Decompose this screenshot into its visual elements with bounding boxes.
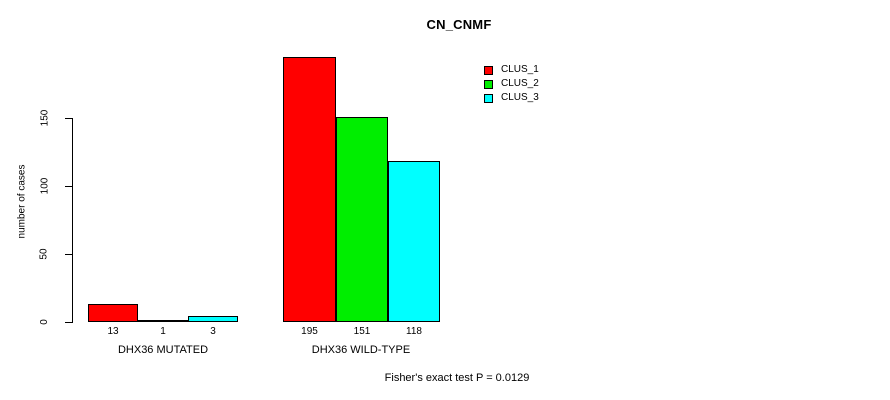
chart-title-text: CN_CNMF <box>427 17 492 32</box>
y-tick-label-0: 0 <box>32 317 58 327</box>
legend-label-clus3: CLUS_3 <box>501 93 539 103</box>
count-label-wildtype-clus3: 118 <box>388 326 440 337</box>
bar-wildtype-clus2 <box>336 117 388 322</box>
bar-mutated-clus1 <box>88 304 138 322</box>
bar-chart-figure: CN_CNMF 150 100 50 0 number of cases 13 … <box>0 0 890 400</box>
count-label-mutated-clus3: 3 <box>188 326 238 337</box>
bar-wildtype-clus3 <box>388 161 440 322</box>
legend-label-clus1: CLUS_1 <box>501 65 539 75</box>
y-tick-150 <box>65 118 72 119</box>
count-label-wildtype-clus2: 151 <box>336 326 388 337</box>
legend-label-clus2: CLUS_2 <box>501 79 539 89</box>
bar-mutated-clus2 <box>138 320 188 322</box>
y-tick-0 <box>65 322 72 323</box>
y-tick-label-150: 150 <box>32 113 58 123</box>
y-tick-label-50: 50 <box>32 249 58 259</box>
legend-swatch-clus1 <box>484 66 493 75</box>
legend: CLUS_1 CLUS_2 CLUS_3 <box>484 63 539 105</box>
chart-title: CN_CNMF <box>0 17 890 32</box>
count-label-mutated-clus2: 1 <box>138 326 188 337</box>
y-tick-label-100: 100 <box>32 181 58 191</box>
y-tick-100 <box>65 186 72 187</box>
count-label-wildtype-clus1: 195 <box>283 326 336 337</box>
legend-item-clus2: CLUS_2 <box>484 77 539 91</box>
group-label-wildtype: DHX36 WILD-TYPE <box>261 344 461 356</box>
y-tick-50 <box>65 254 72 255</box>
bar-mutated-clus3 <box>188 316 238 322</box>
y-axis-line <box>72 118 73 323</box>
y-axis-title: number of cases <box>17 142 28 262</box>
count-label-mutated-clus1: 13 <box>88 326 138 337</box>
legend-swatch-clus3 <box>484 94 493 103</box>
statistical-test-annotation: Fisher's exact test P = 0.0129 <box>0 372 890 384</box>
legend-item-clus3: CLUS_3 <box>484 91 539 105</box>
statistical-test-text: Fisher's exact test P = 0.0129 <box>385 372 530 384</box>
bar-wildtype-clus1 <box>283 57 336 322</box>
legend-swatch-clus2 <box>484 80 493 89</box>
group-label-mutated: DHX36 MUTATED <box>63 344 263 356</box>
legend-item-clus1: CLUS_1 <box>484 63 539 77</box>
